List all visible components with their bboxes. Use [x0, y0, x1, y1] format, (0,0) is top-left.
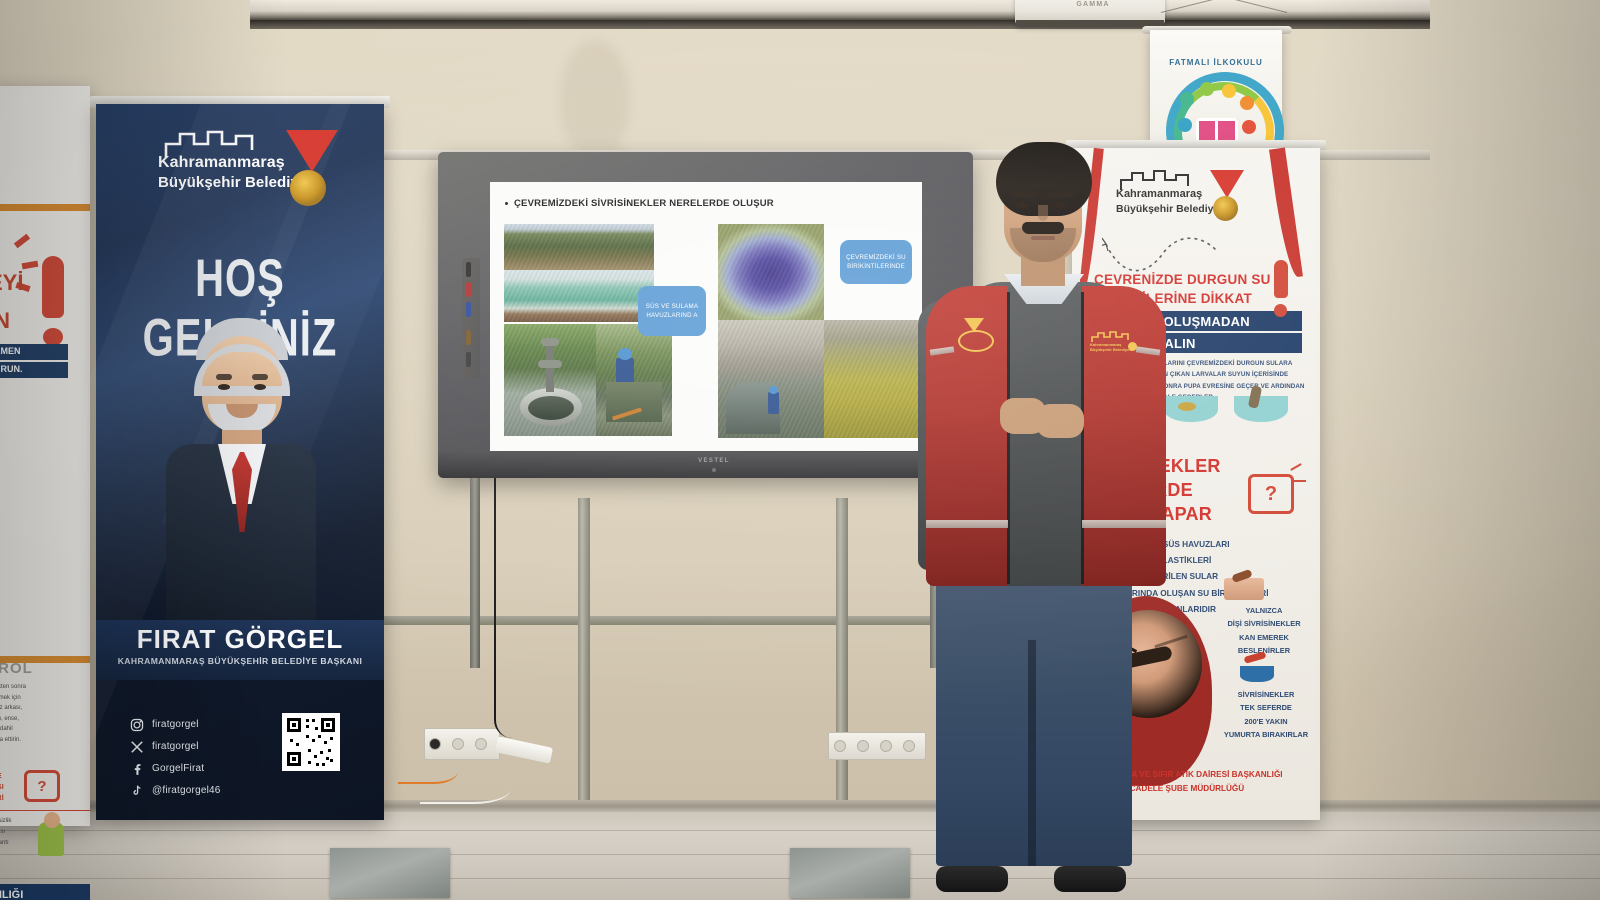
scene-vignette — [0, 0, 1600, 900]
classroom-scene: GAMMA FATMALI İLKOKULU — [0, 0, 1600, 900]
